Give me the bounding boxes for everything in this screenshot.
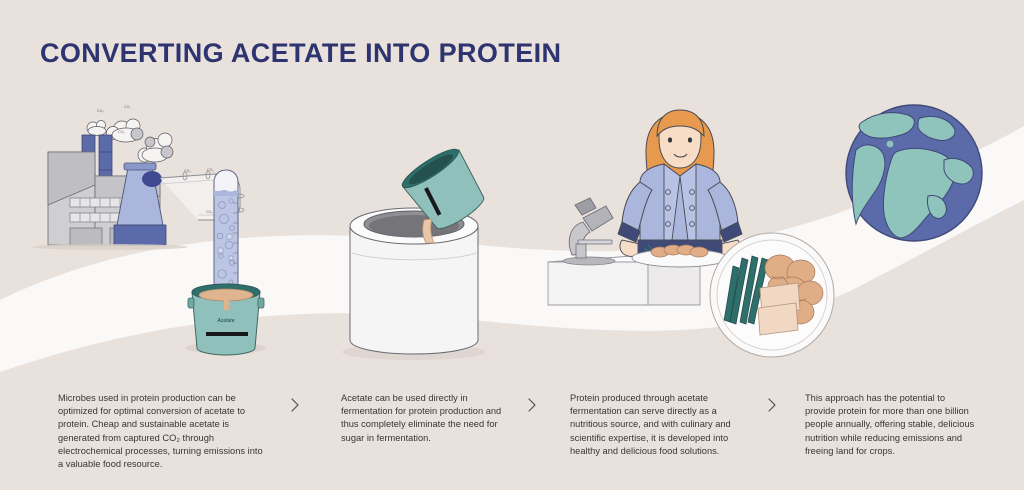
protein-slices	[758, 283, 800, 335]
fermentation-tank	[342, 208, 486, 360]
co2-pipe-label: CO₂	[207, 168, 214, 172]
food-plate	[710, 233, 834, 357]
microscope	[563, 198, 615, 265]
co2-label: CO₂	[118, 130, 125, 134]
caption-4-text: This approach has the potential to provi…	[805, 392, 978, 458]
chevron-right-icon	[765, 396, 779, 414]
caption-1: Microbes used in protein production can …	[58, 392, 263, 471]
caption-row: Microbes used in protein production can …	[0, 392, 1024, 490]
smoke-cloud-2	[87, 121, 106, 136]
caption-2: Acetate can be used directly in fermenta…	[341, 392, 516, 445]
smoke-shadow	[131, 128, 143, 140]
chevron-right-icon	[288, 396, 302, 414]
earth-globe	[846, 105, 982, 241]
co2-pipe-label: CO₂	[206, 210, 213, 214]
infographic-canvas: CONVERTING ACETATE INTO PROTEIN CO₂ CO₂	[0, 0, 1024, 490]
co2-pipe-label: CO₂	[184, 169, 191, 173]
caption-2-text: Acetate can be used directly in fermenta…	[341, 392, 516, 445]
cooling-tower	[114, 163, 166, 245]
caption-1-text: Microbes used in protein production can …	[58, 392, 263, 471]
co2-label: CO₂	[97, 109, 104, 113]
co2-label: CO₂	[124, 105, 131, 109]
illustration-scene: CO₂ CO₂ CO₂	[0, 0, 1024, 400]
acetate-bucket-label: Acetate	[217, 318, 235, 324]
caption-4: This approach has the potential to provi…	[805, 392, 978, 458]
caption-3: Protein produced through acetate ferment…	[570, 392, 750, 458]
caption-3-text: Protein produced through acetate ferment…	[570, 392, 750, 458]
chef-figure	[618, 110, 742, 262]
chevron-right-icon	[525, 396, 539, 414]
